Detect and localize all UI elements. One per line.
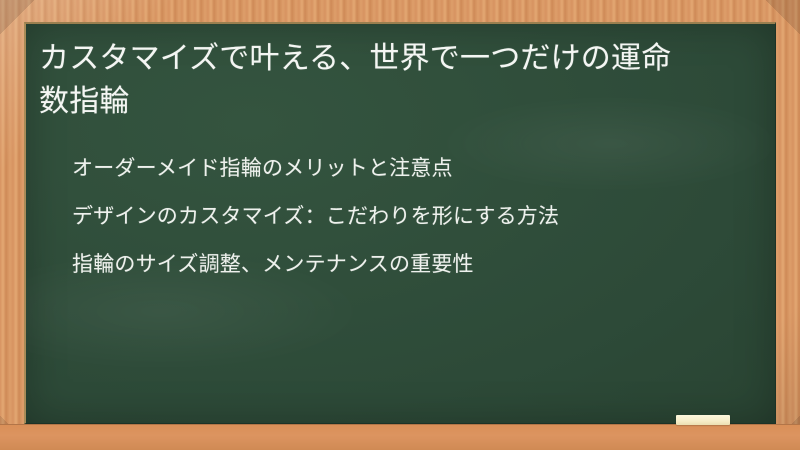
list-item[interactable]: オーダーメイド指輪のメリットと注意点 bbox=[72, 153, 712, 184]
topic-list: オーダーメイド指輪のメリットと注意点 デザインのカスタマイズ：こだわりを形にする… bbox=[39, 153, 712, 279]
list-item[interactable]: 指輪のサイズ調整、メンテナンスの重要性 bbox=[72, 249, 712, 280]
list-item[interactable]: デザインのカスタマイズ：こだわりを形にする方法 bbox=[72, 201, 712, 232]
chalkboard-surface: カスタマイズで叶える、世界で一つだけの運命数指輪 オーダーメイド指輪のメリットと… bbox=[24, 22, 776, 424]
page-title: カスタマイズで叶える、世界で一つだけの運命数指輪 bbox=[39, 38, 699, 123]
chalk-stick-icon bbox=[676, 415, 730, 425]
blackboard-frame: カスタマイズで叶える、世界で一つだけの運命数指輪 オーダーメイド指輪のメリットと… bbox=[0, 0, 800, 450]
chalk-ledge bbox=[0, 424, 800, 450]
chalkboard-content: カスタマイズで叶える、世界で一つだけの運命数指輪 オーダーメイド指輪のメリットと… bbox=[26, 24, 775, 423]
